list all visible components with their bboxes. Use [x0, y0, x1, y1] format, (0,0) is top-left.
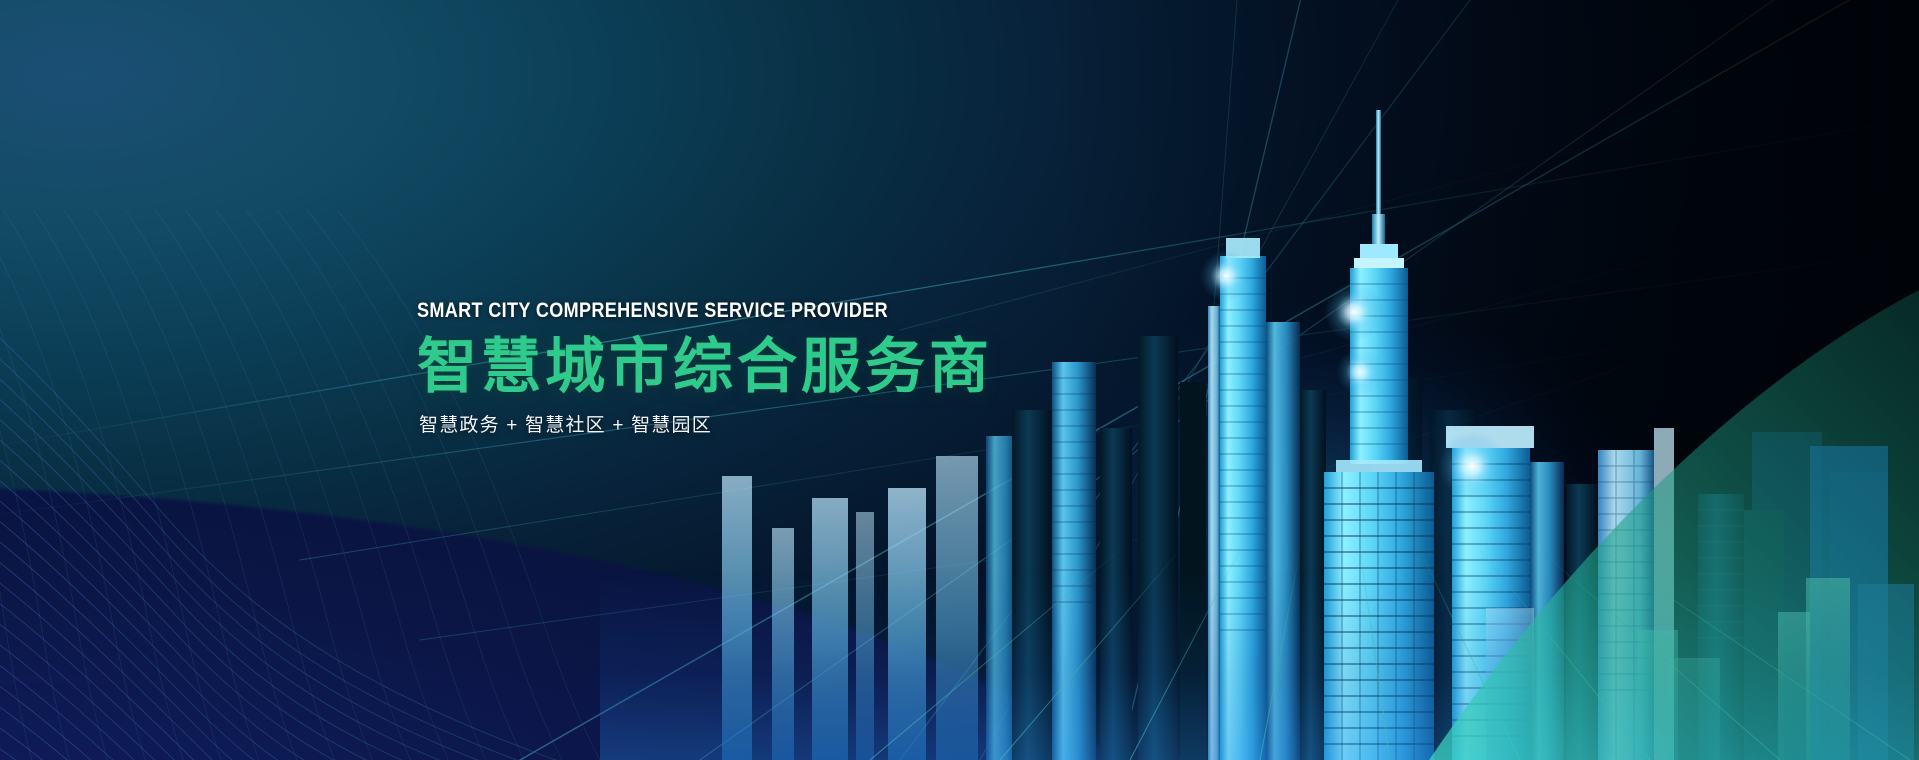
floor-reflection-haze [600, 570, 1919, 760]
banner-headline: 智慧城市综合服务商 [417, 335, 1177, 400]
city-skyline [660, 110, 1919, 760]
green-corner-wave [1279, 290, 1919, 760]
smart-city-banner: SMART CITY COMPREHENSIVE SERVICE PROVIDE… [0, 0, 1919, 760]
city-glow [900, 180, 1800, 740]
banner-subline: 智慧政务 + 智慧社区 + 智慧园区 [419, 416, 1177, 435]
banner-copy: SMART CITY COMPREHENSIVE SERVICE PROVIDE… [417, 300, 1177, 435]
perspective-grid-floor [620, 550, 1919, 760]
banner-eyebrow: SMART CITY COMPREHENSIVE SERVICE PROVIDE… [417, 300, 1071, 321]
wave-mesh-lines [0, 210, 690, 760]
